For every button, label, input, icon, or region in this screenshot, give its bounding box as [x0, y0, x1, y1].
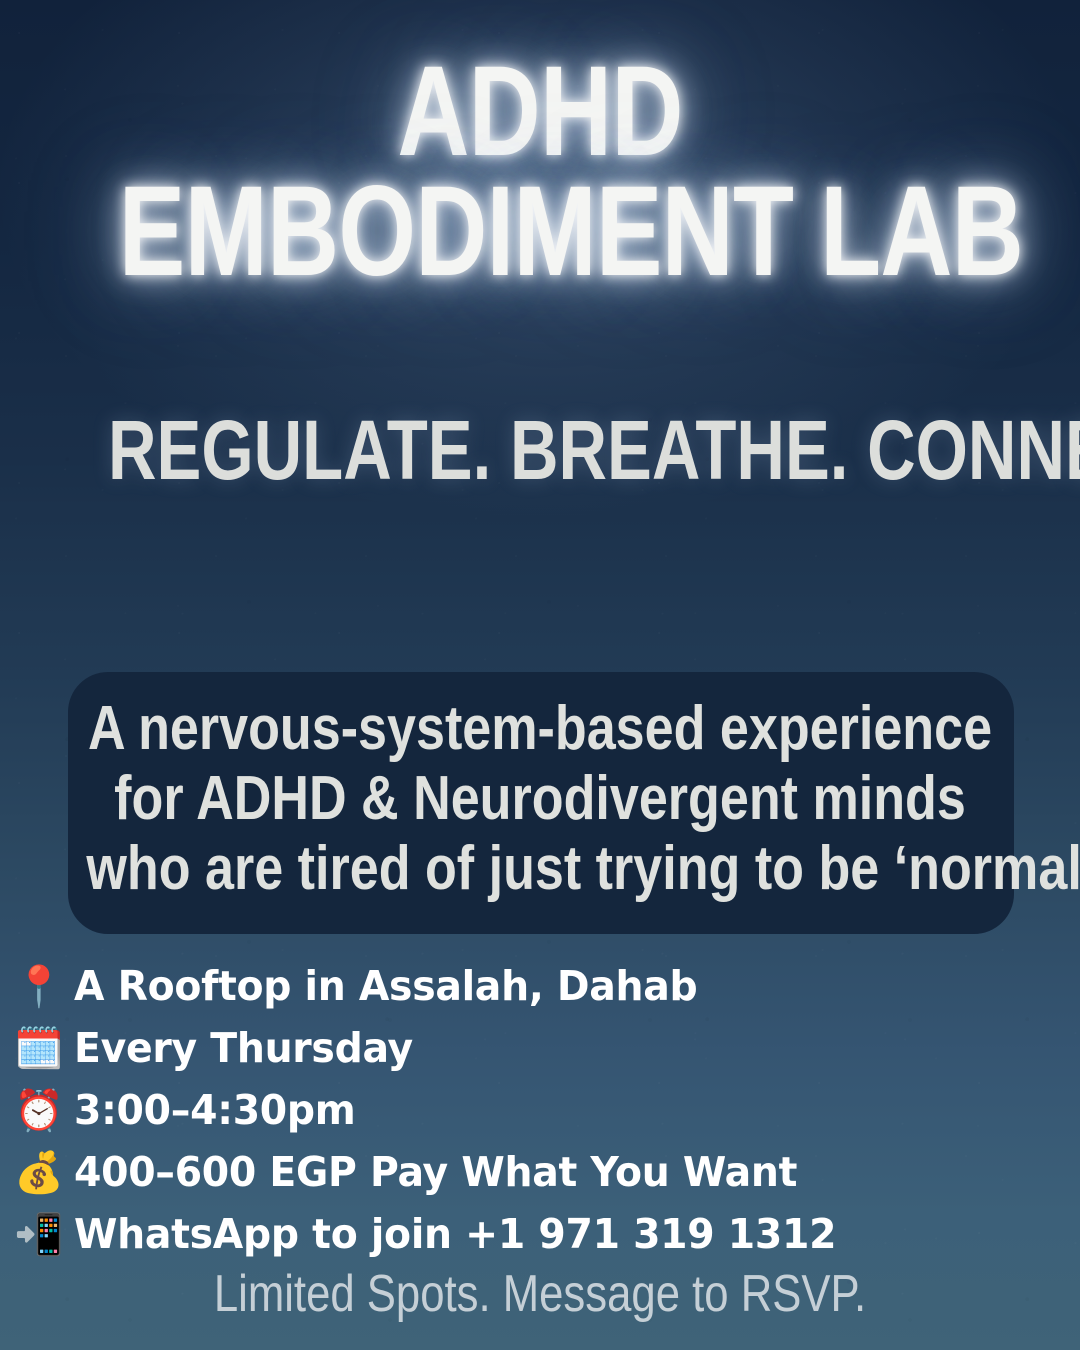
detail-row-time: ⏰ 3:00–4:30pm [14, 1082, 868, 1139]
title-line-primary: ADHD [119, 52, 961, 172]
poster-footer-note: Limited Spots. Message to RSVP. [86, 1268, 993, 1320]
mobile-phone-with-arrow-icon: 📲 [14, 1215, 60, 1255]
detail-row-price: 💰 400–600 EGP Pay What You Want [14, 1144, 868, 1201]
detail-row-location: 📍 A Rooftop in Assalah, Dahab [14, 958, 868, 1015]
calendar-icon: 🗓️ [14, 1029, 60, 1069]
description-line-2: for ADHD & Neurodivergent minds [86, 764, 993, 834]
detail-label-day: Every Thursday [74, 1028, 413, 1069]
detail-label-price: 400–600 EGP Pay What You Want [74, 1152, 797, 1193]
detail-label-contact[interactable]: WhatsApp to join +1 971 319 1312 [74, 1214, 836, 1255]
description-line-1: A nervous-system-based experience [86, 694, 993, 764]
description-line-3: who are tired of just trying to be ‘norm… [86, 834, 993, 904]
detail-label-location: A Rooftop in Assalah, Dahab [74, 966, 697, 1007]
event-details-list: 📍 A Rooftop in Assalah, Dahab 🗓️ Every T… [14, 958, 868, 1263]
poster-tagline: REGULATE. BREATHE. CONNECT. PLAY. [108, 408, 972, 492]
detail-row-contact[interactable]: 📲 WhatsApp to join +1 971 319 1312 [14, 1206, 868, 1263]
money-bag-icon: 💰 [14, 1153, 60, 1193]
event-poster: ADHD EMBODIMENT LAB REGULATE. BREATHE. C… [0, 0, 1080, 1350]
alarm-clock-icon: ⏰ [14, 1091, 60, 1131]
poster-title: ADHD EMBODIMENT LAB [0, 52, 1080, 293]
detail-label-time: 3:00–4:30pm [74, 1090, 356, 1131]
location-pin-icon: 📍 [14, 967, 60, 1007]
description-text: A nervous-system-based experience for AD… [86, 694, 993, 904]
title-line-secondary: EMBODIMENT LAB [119, 172, 961, 292]
detail-row-day: 🗓️ Every Thursday [14, 1020, 868, 1077]
